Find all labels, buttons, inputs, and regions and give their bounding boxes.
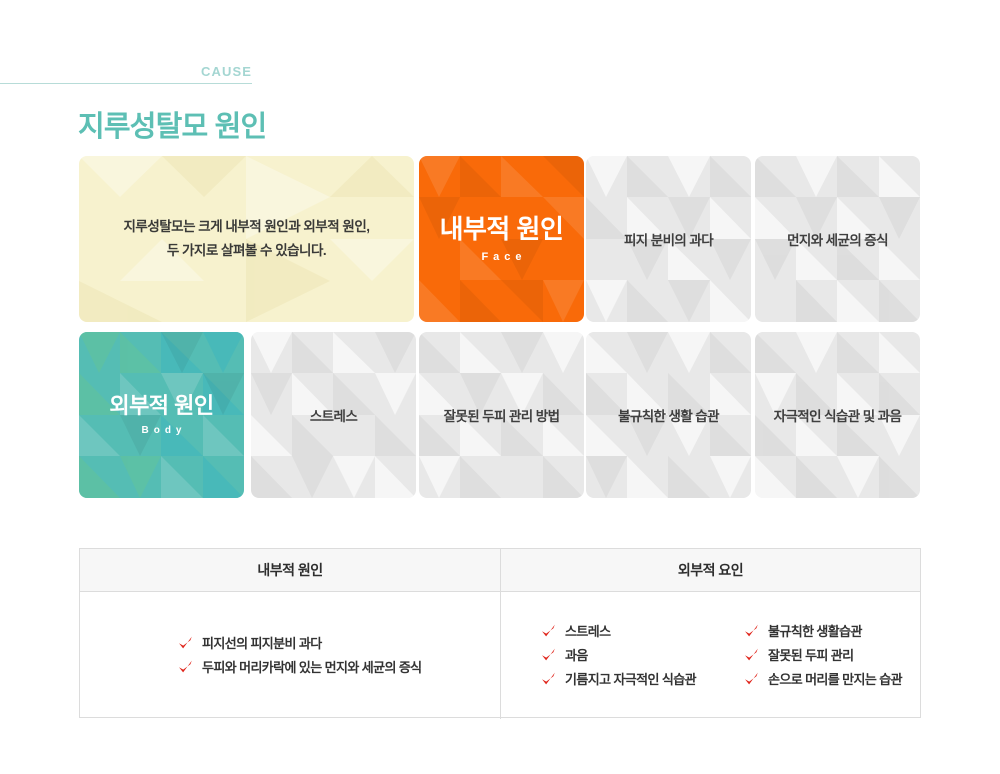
list-item: 두피와 머리카락에 있는 먼지와 세균의 증식 <box>178 656 422 680</box>
tile-external-item-0[interactable]: 스트레스 <box>251 332 416 498</box>
tile-external-cause-hero[interactable]: 외부적 원인 Body <box>79 332 244 498</box>
list-item-label: 과음 <box>565 649 588 662</box>
tile-external-item-3[interactable]: 자극적인 식습관 및 과음 <box>755 332 920 498</box>
tile-internal-hero-sub: Face <box>440 251 564 263</box>
internal-cause-list: 피지선의 피지분비 과다 두피와 머리카락에 있는 먼지와 세균의 증식 <box>178 632 422 680</box>
tile-external-hero-heading: 외부적 원인 <box>109 394 213 418</box>
tile-internal-item-label: 피지 분비의 과다 <box>624 229 713 249</box>
check-icon <box>744 648 759 662</box>
check-icon <box>178 660 193 674</box>
list-item: 피지선의 피지분비 과다 <box>178 632 422 656</box>
table-header-internal: 내부적 원인 <box>80 549 500 591</box>
header-eyebrow-label: CAUSE <box>0 64 252 79</box>
external-cause-list-col1: 스트레스 과음 기름지고 자극적인 식습관 <box>541 620 696 692</box>
table-cell-external: 스트레스 과음 기름지고 자극적인 식습관 <box>500 592 920 719</box>
check-icon <box>744 672 759 686</box>
check-icon <box>744 624 759 638</box>
list-item: 손으로 머리를 만지는 습관 <box>744 668 902 692</box>
list-item: 스트레스 <box>541 620 696 644</box>
check-icon <box>541 672 556 686</box>
cause-summary-table: 내부적 원인 외부적 요인 피지선의 피지분비 과다 두피 <box>79 548 921 718</box>
tile-external-item-label: 자극적인 식습관 및 과음 <box>774 405 902 425</box>
check-icon <box>178 636 193 650</box>
list-item-label: 잘못된 두피 관리 <box>768 649 854 662</box>
header-divider-line <box>0 83 252 84</box>
table-body-row: 피지선의 피지분비 과다 두피와 머리카락에 있는 먼지와 세균의 증식 <box>80 592 920 719</box>
tile-external-item-1[interactable]: 잘못된 두피 관리 방법 <box>419 332 584 498</box>
table-header-external: 외부적 요인 <box>500 549 920 591</box>
tile-external-item-label: 스트레스 <box>310 405 357 425</box>
list-item: 기름지고 자극적인 식습관 <box>541 668 696 692</box>
table-cell-internal: 피지선의 피지분비 과다 두피와 머리카락에 있는 먼지와 세균의 증식 <box>80 592 500 719</box>
tile-internal-item-1[interactable]: 먼지와 세균의 증식 <box>755 156 920 322</box>
tile-external-item-label: 불규칙한 생활 습관 <box>618 405 719 425</box>
list-item-label: 피지선의 피지분비 과다 <box>202 637 322 650</box>
tile-intro-label: 지루성탈모는 크게 내부적 원인과 외부적 원인, 두 가지로 살펴볼 수 있습… <box>124 215 370 262</box>
tile-internal-item-0[interactable]: 피지 분비의 과다 <box>586 156 751 322</box>
list-item-label: 손으로 머리를 만지는 습관 <box>768 673 902 686</box>
page-header: CAUSE 지루성탈모 원인 <box>0 0 1000 140</box>
external-cause-list-col2: 불규칙한 생활습관 잘못된 두피 관리 손으로 머리를 만지는 습관 <box>744 620 902 692</box>
list-item-label: 스트레스 <box>565 625 610 638</box>
list-item: 불규칙한 생활습관 <box>744 620 902 644</box>
tile-internal-item-label: 먼지와 세균의 증식 <box>787 229 888 249</box>
list-item-label: 불규칙한 생활습관 <box>768 625 862 638</box>
list-item: 잘못된 두피 관리 <box>744 644 902 668</box>
tile-internal-cause-hero[interactable]: 내부적 원인 Face <box>419 156 584 322</box>
page-title: 지루성탈모 원인 <box>78 103 266 145</box>
check-icon <box>541 648 556 662</box>
table-header-row: 내부적 원인 외부적 요인 <box>80 549 920 592</box>
tile-external-item-label: 잘못된 두피 관리 방법 <box>444 405 560 425</box>
tile-external-hero-sub: Body <box>109 425 213 436</box>
check-icon <box>541 624 556 638</box>
tile-internal-hero-heading: 내부적 원인 <box>440 215 564 244</box>
list-item-label: 두피와 머리카락에 있는 먼지와 세균의 증식 <box>202 661 422 674</box>
list-item-label: 기름지고 자극적인 식습관 <box>565 673 696 686</box>
tile-intro-text: 지루성탈모는 크게 내부적 원인과 외부적 원인, 두 가지로 살펴볼 수 있습… <box>79 156 414 322</box>
list-item: 과음 <box>541 644 696 668</box>
tile-external-item-2[interactable]: 불규칙한 생활 습관 <box>586 332 751 498</box>
